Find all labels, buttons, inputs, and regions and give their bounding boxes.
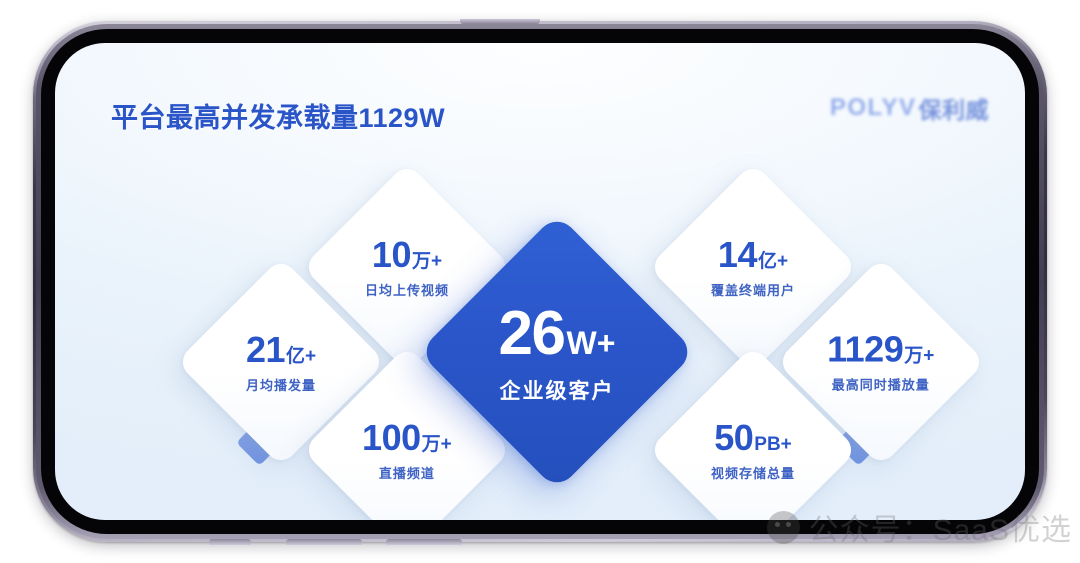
metric-label: 直播频道 <box>362 467 452 480</box>
metric-number: 21 <box>246 329 285 370</box>
metric-unit: 亿+ <box>286 346 316 367</box>
mute-switch-button[interactable] <box>209 539 251 545</box>
metric-unit: 亿+ <box>758 251 788 272</box>
metric-number: 50 <box>714 417 753 458</box>
metric-label: 覆盖终端用户 <box>711 284 795 297</box>
metric-unit: 万+ <box>412 251 442 272</box>
phone-screen: 平台最高并发承载量1129W POLYV 保利威 10万+ <box>55 43 1025 520</box>
metric-label: 视频存储总量 <box>711 467 795 480</box>
presentation-slide: 平台最高并发承载量1129W POLYV 保利威 10万+ <box>55 43 1025 520</box>
metric-unit: PB+ <box>754 434 792 455</box>
metric-label: 最高同时播放量 <box>827 379 934 392</box>
metric-unit: W+ <box>567 324 616 360</box>
metric-number: 26 <box>499 298 565 367</box>
phone-device-frame: 平台最高并发承载量1129W POLYV 保利威 10万+ <box>33 21 1047 542</box>
volume-up-button[interactable] <box>286 539 362 545</box>
metric-label: 日均上传视频 <box>365 284 449 297</box>
power-button[interactable] <box>460 19 540 24</box>
metric-number: 14 <box>718 234 757 275</box>
metric-number: 1129 <box>827 329 903 370</box>
metric-number: 100 <box>362 417 421 458</box>
screenshot-stage: 平台最高并发承载量1129W POLYV 保利威 10万+ <box>0 0 1080 563</box>
metrics-diamond-cluster: 10万+ 日均上传视频 14亿+ 覆盖终端用户 <box>55 43 1025 520</box>
metric-label: 企业级客户 <box>499 380 616 401</box>
metric-number: 10 <box>372 234 411 275</box>
metric-label: 月均播发量 <box>246 379 316 392</box>
metric-unit: 万+ <box>422 434 452 455</box>
volume-down-button[interactable] <box>386 539 462 545</box>
metric-unit: 万+ <box>905 346 935 367</box>
